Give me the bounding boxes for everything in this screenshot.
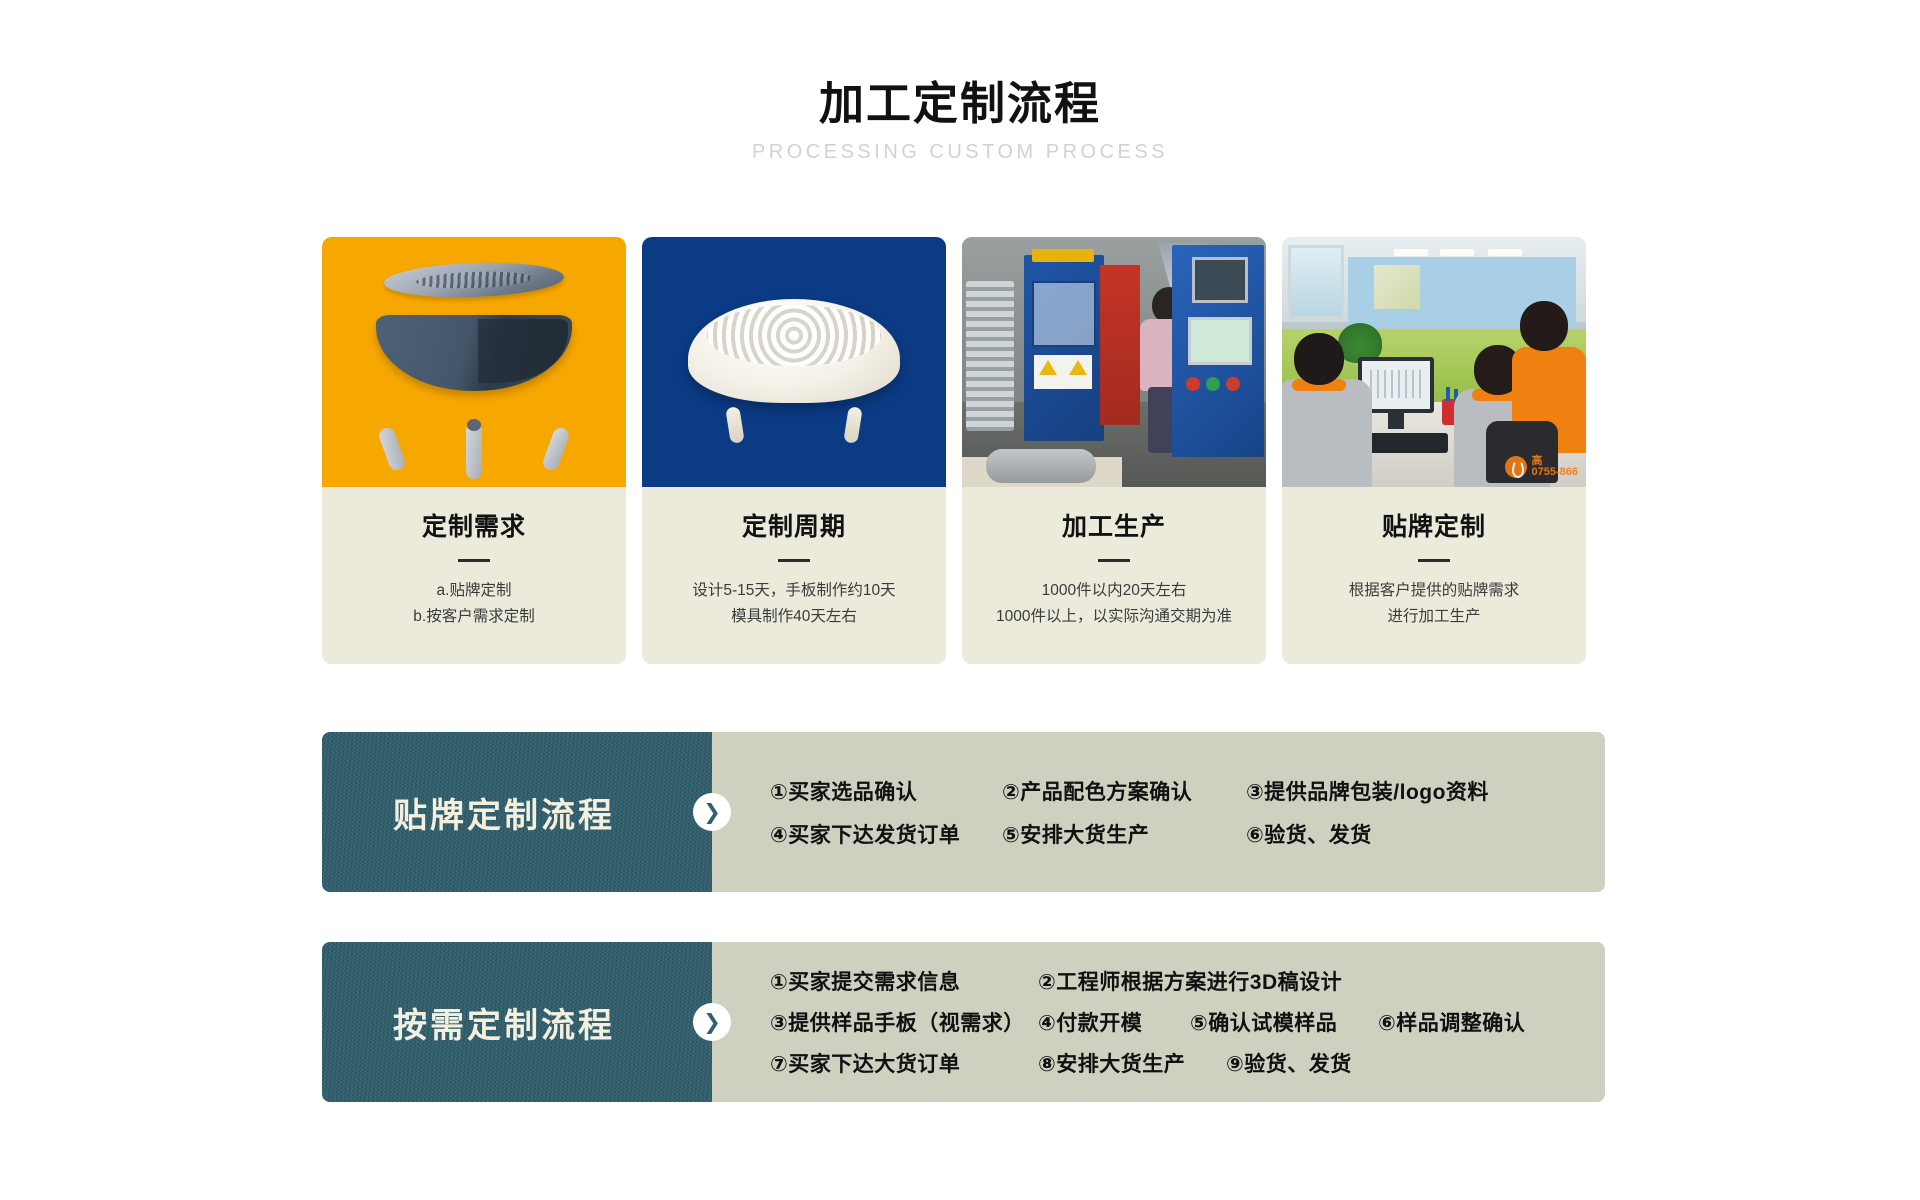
step-item: ⑤确认试模样品 bbox=[1190, 1007, 1378, 1037]
card-1-title: 定制需求 bbox=[334, 507, 614, 543]
machine-display-lower bbox=[1188, 317, 1252, 365]
card-2-desc-line-1: 设计5-15天，手板制作约10天 bbox=[654, 578, 934, 604]
step-item: ②工程师根据方案进行3D稿设计 bbox=[1038, 966, 1342, 996]
step-item: ⑥验货、发货 bbox=[1246, 819, 1372, 849]
machine-label-plate bbox=[1032, 249, 1094, 262]
ondemand-process-label-block: 按需定制流程 ❯ bbox=[322, 942, 712, 1102]
monitor-stand bbox=[1388, 413, 1404, 429]
step-row: ④买家下达发货订单 ⑤安排大货生产 ⑥验货、发货 bbox=[770, 819, 1579, 849]
process-card-4[interactable]: 高 0755-866 贴牌定制 根据客户提供的贴牌需求 进行加工生产 bbox=[1282, 237, 1586, 664]
chevron-right-icon: ❯ bbox=[693, 1003, 731, 1041]
product-bowl-part bbox=[376, 315, 572, 391]
step-item: ⑦买家下达大货订单 bbox=[770, 1048, 1038, 1078]
card-1-body: 定制需求 a.贴牌定制 b.按客户需求定制 bbox=[322, 487, 626, 664]
card-3-divider bbox=[1098, 559, 1130, 562]
engineer-left bbox=[1282, 333, 1372, 487]
machine-buttons bbox=[1186, 377, 1250, 395]
ceiling-light bbox=[1440, 249, 1474, 256]
page-header: 加工定制流程 PROCESSING CUSTOM PROCESS bbox=[0, 0, 1920, 164]
process-card-1[interactable]: 定制需求 a.贴牌定制 b.按客户需求定制 bbox=[322, 237, 626, 664]
process-card-2[interactable]: 定制周期 设计5-15天，手板制作约10天 模具制作40天左右 bbox=[642, 237, 946, 664]
molded-part bbox=[986, 449, 1096, 483]
step-row: ③提供样品手板（视需求） ④付款开模 ⑤确认试模样品 ⑥样品调整确认 bbox=[770, 1007, 1579, 1037]
watermark-icon bbox=[1505, 456, 1527, 478]
machine-window bbox=[1032, 281, 1096, 347]
product-leg-part-left bbox=[377, 426, 407, 473]
product-leg-part-center bbox=[466, 423, 482, 479]
page-subtitle: PROCESSING CUSTOM PROCESS bbox=[0, 141, 1920, 164]
card-3-desc-line-1: 1000件以内20天左右 bbox=[974, 578, 1254, 604]
watermark-text-line-2: 0755-866 bbox=[1532, 467, 1579, 479]
card-2-divider bbox=[778, 559, 810, 562]
card-4-title: 贴牌定制 bbox=[1294, 507, 1574, 543]
keyboard bbox=[1364, 433, 1448, 453]
card-1-divider bbox=[458, 559, 490, 562]
step-row: ①买家选品确认 ②产品配色方案确认 ③提供品牌包装/logo资料 bbox=[770, 776, 1579, 806]
ondemand-process-steps: ①买家提交需求信息 ②工程师根据方案进行3D稿设计 ③提供样品手板（视需求） ④… bbox=[712, 942, 1605, 1102]
chevron-right-icon: ❯ bbox=[693, 793, 731, 831]
machine-display-upper bbox=[1192, 257, 1248, 303]
step-item: ④买家下达发货订单 bbox=[770, 819, 1002, 849]
card-3-desc-line-2: 1000件以上，以实际沟通交期为准 bbox=[974, 604, 1254, 630]
page-title: 加工定制流程 bbox=[0, 78, 1920, 130]
card-2-image-white-prototype-photo bbox=[642, 237, 946, 487]
card-3-body: 加工生产 1000件以内20天左右 1000件以上，以实际沟通交期为准 bbox=[962, 487, 1266, 664]
ceiling-light bbox=[1488, 249, 1522, 256]
step-row: ①买家提交需求信息 ②工程师根据方案进行3D稿设计 bbox=[770, 966, 1579, 996]
step-item: ①买家提交需求信息 bbox=[770, 966, 1038, 996]
card-3-title: 加工生产 bbox=[974, 507, 1254, 543]
card-4-divider bbox=[1418, 559, 1450, 562]
step-item: ②产品配色方案确认 bbox=[1002, 776, 1246, 806]
oem-process-banner: 贴牌定制流程 ❯ ①买家选品确认 ②产品配色方案确认 ③提供品牌包装/logo资… bbox=[322, 732, 1605, 892]
card-1-desc-line-1: a.贴牌定制 bbox=[334, 578, 614, 604]
step-item: ⑤安排大货生产 bbox=[1002, 819, 1246, 849]
step-item: ③提供品牌包装/logo资料 bbox=[1246, 776, 1489, 806]
step-item: ④付款开模 bbox=[1038, 1007, 1190, 1037]
prototype-bowl bbox=[688, 299, 900, 403]
card-2-title: 定制周期 bbox=[654, 507, 934, 543]
prototype-leg-right bbox=[843, 406, 862, 444]
oem-process-label-block: 贴牌定制流程 ❯ bbox=[322, 732, 712, 892]
ondemand-process-banner: 按需定制流程 ❯ ①买家提交需求信息 ②工程师根据方案进行3D稿设计 ③提供样品… bbox=[322, 942, 1605, 1102]
card-2-desc-line-2: 模具制作40天左右 bbox=[654, 604, 934, 630]
step-item: ⑨验货、发货 bbox=[1226, 1048, 1352, 1078]
wall-poster bbox=[1374, 265, 1420, 309]
warning-sign bbox=[1034, 355, 1092, 389]
ceiling-light bbox=[1394, 249, 1428, 256]
step-item: ①买家选品确认 bbox=[770, 776, 1002, 806]
card-3-image-factory-molding-photo bbox=[962, 237, 1266, 487]
stacked-parts bbox=[966, 281, 1014, 431]
process-card-row: 定制需求 a.贴牌定制 b.按客户需求定制 定制周期 设计5-15天，手板制作约… bbox=[322, 237, 1605, 664]
product-lid-part bbox=[383, 260, 564, 300]
card-1-image-exploded-product-render bbox=[322, 237, 626, 487]
card-4-desc-line-1: 根据客户提供的贴牌需求 bbox=[1294, 578, 1574, 604]
prototype-leg-left bbox=[725, 406, 744, 444]
card-4-image-office-design-photo: 高 0755-866 bbox=[1282, 237, 1586, 487]
process-card-3[interactable]: 加工生产 1000件以内20天左右 1000件以上，以实际沟通交期为准 bbox=[962, 237, 1266, 664]
red-machine-column bbox=[1100, 265, 1140, 425]
ondemand-process-label: 按需定制流程 bbox=[393, 998, 615, 1047]
oem-process-label: 贴牌定制流程 bbox=[393, 788, 615, 837]
company-watermark-logo: 高 0755-866 bbox=[1505, 456, 1579, 479]
card-2-body: 定制周期 设计5-15天，手板制作约10天 模具制作40天左右 bbox=[642, 487, 946, 664]
step-row: ⑦买家下达大货订单 ⑧安排大货生产 ⑨验货、发货 bbox=[770, 1048, 1579, 1078]
step-item: ⑧安排大货生产 bbox=[1038, 1048, 1226, 1078]
processing-custom-process-page: 加工定制流程 PROCESSING CUSTOM PROCESS 定制需求 a.… bbox=[0, 0, 1920, 1200]
step-item: ③提供样品手板（视需求） bbox=[770, 1007, 1038, 1037]
step-item: ⑥样品调整确认 bbox=[1378, 1007, 1525, 1037]
product-leg-part-right bbox=[541, 426, 571, 473]
card-4-body: 贴牌定制 根据客户提供的贴牌需求 进行加工生产 bbox=[1282, 487, 1586, 664]
oem-process-steps: ①买家选品确认 ②产品配色方案确认 ③提供品牌包装/logo资料 ④买家下达发货… bbox=[712, 732, 1605, 892]
card-1-desc-line-2: b.按客户需求定制 bbox=[334, 604, 614, 630]
card-4-desc-line-2: 进行加工生产 bbox=[1294, 604, 1574, 630]
office-window bbox=[1288, 245, 1344, 319]
